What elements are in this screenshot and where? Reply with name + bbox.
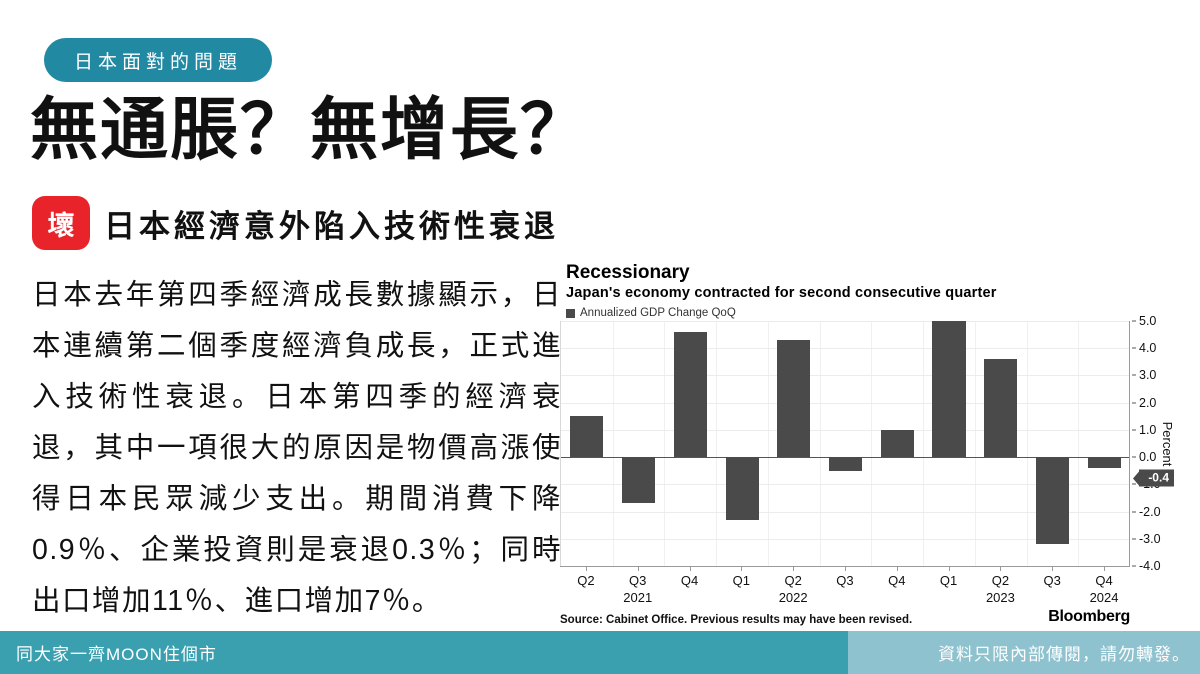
bar-slot [613, 321, 665, 566]
x-tick: Q32021 [612, 567, 664, 607]
x-tick: Q2 [560, 567, 612, 607]
plot-area-wrapper: 5.04.03.02.01.00.0-1.0-2.0-3.0-4.0 Perce… [560, 321, 1176, 566]
x-tick-year: 2021 [612, 589, 664, 606]
x-tick-mark [1104, 566, 1105, 571]
x-tick-label: Q2 [577, 573, 594, 588]
x-tick-mark [1000, 566, 1001, 571]
chart-legend: Annualized GDP Change QoQ [566, 307, 1176, 319]
bar-slot [561, 321, 613, 566]
x-tick-mark [949, 566, 950, 571]
bar-slot [716, 321, 768, 566]
chart-footer: Source: Cabinet Office. Previous results… [560, 608, 1130, 626]
x-tick-label: Q3 [1044, 573, 1061, 588]
y-tick-label: 4.0 [1132, 341, 1176, 355]
bar [984, 359, 1017, 457]
bar [777, 340, 810, 457]
x-tick-label: Q3 [836, 573, 853, 588]
x-tick-label: Q4 [888, 573, 905, 588]
bar [881, 430, 914, 457]
y-tick-label: 3.0 [1132, 368, 1176, 382]
x-tick: Q22022 [767, 567, 819, 607]
body-paragraph: 日本去年第四季經濟成長數據顯示，日本連續第二個季度經濟負成長，正式進入技術性衰退… [32, 270, 562, 627]
bar-slot [975, 321, 1027, 566]
bar-series [561, 321, 1130, 566]
x-tick-mark [1052, 566, 1053, 571]
bar-slot [923, 321, 975, 566]
chart-panel: Recessionary Japan's economy contracted … [560, 262, 1176, 622]
bar-slot [820, 321, 872, 566]
x-tick-year: 2024 [1078, 589, 1130, 606]
x-axis: Q2Q32021Q4Q1Q22022Q3Q4Q1Q22023Q3Q42024 [560, 566, 1130, 607]
bar [829, 457, 862, 471]
x-tick-label: Q2 [784, 573, 801, 588]
y-axis-line [1129, 321, 1130, 566]
bar-slot [1078, 321, 1130, 566]
bar-slot [768, 321, 820, 566]
x-tick-mark [586, 566, 587, 571]
bar [726, 457, 759, 520]
x-tick-label: Q3 [629, 573, 646, 588]
x-tick-label: Q1 [940, 573, 957, 588]
x-tick: Q42024 [1078, 567, 1130, 607]
value-callout: -0.4 [1139, 470, 1174, 487]
x-tick-year: 2022 [767, 589, 819, 606]
x-tick: Q3 [819, 567, 871, 607]
x-tick: Q1 [923, 567, 975, 607]
x-tick: Q3 [1026, 567, 1078, 607]
chart-subtitle: Japan's economy contracted for second co… [566, 285, 1176, 301]
x-tick-mark [793, 566, 794, 571]
plot-area [560, 321, 1130, 566]
x-tick: Q22023 [975, 567, 1027, 607]
bar [1088, 457, 1121, 468]
subheading-text: 日本經濟意外陷入技術性衰退 [104, 201, 559, 246]
y-tick-label: -3.0 [1132, 532, 1176, 546]
bar [570, 416, 603, 457]
status-badge-label: 壞 [48, 204, 75, 243]
bar [932, 321, 965, 457]
x-tick-label: Q4 [1095, 573, 1112, 588]
x-tick-mark [845, 566, 846, 571]
footer-bar: 同大家一齊MOON住個市 資料只限內部傳閱，請勿轉發。 [0, 631, 1200, 674]
legend-label: Annualized GDP Change QoQ [580, 307, 736, 319]
footer-left-text: 同大家一齊MOON住個市 [0, 631, 848, 674]
x-tick: Q4 [664, 567, 716, 607]
status-badge: 壞 [32, 196, 90, 250]
kicker-pill: 日本面對的問題 [44, 38, 272, 82]
legend-swatch-icon [566, 309, 575, 318]
bar-slot [871, 321, 923, 566]
x-tick-label: Q2 [992, 573, 1009, 588]
bar [622, 457, 655, 503]
y-axis-label: Percent [1160, 421, 1175, 466]
x-tick-label: Q1 [733, 573, 750, 588]
x-tick-label: Q4 [681, 573, 698, 588]
chart-source: Source: Cabinet Office. Previous results… [560, 614, 912, 626]
x-tick-mark [897, 566, 898, 571]
subheading-row: 壞 日本經濟意外陷入技術性衰退 [32, 196, 559, 250]
chart-brand: Bloomberg [1048, 608, 1130, 626]
page-title: 無通脹？無增長？ [30, 88, 590, 172]
footer-right-text: 資料只限內部傳閱，請勿轉發。 [848, 631, 1200, 674]
bar-slot [664, 321, 716, 566]
kicker-label: 日本面對的問題 [74, 47, 242, 74]
x-tick: Q1 [715, 567, 767, 607]
x-tick-mark [638, 566, 639, 571]
slide-root: 日本面對的問題 無通脹？無增長？ 壞 日本經濟意外陷入技術性衰退 日本去年第四季… [0, 0, 1200, 674]
bar [674, 332, 707, 457]
y-tick-label: 2.0 [1132, 396, 1176, 410]
x-tick-year: 2023 [975, 589, 1027, 606]
y-tick-label: -4.0 [1132, 559, 1176, 573]
x-tick: Q4 [871, 567, 923, 607]
bar-slot [1027, 321, 1079, 566]
chart-title: Recessionary [566, 262, 1176, 284]
bar [1036, 457, 1069, 544]
y-tick-label: -2.0 [1132, 505, 1176, 519]
x-tick-mark [690, 566, 691, 571]
x-tick-mark [741, 566, 742, 571]
